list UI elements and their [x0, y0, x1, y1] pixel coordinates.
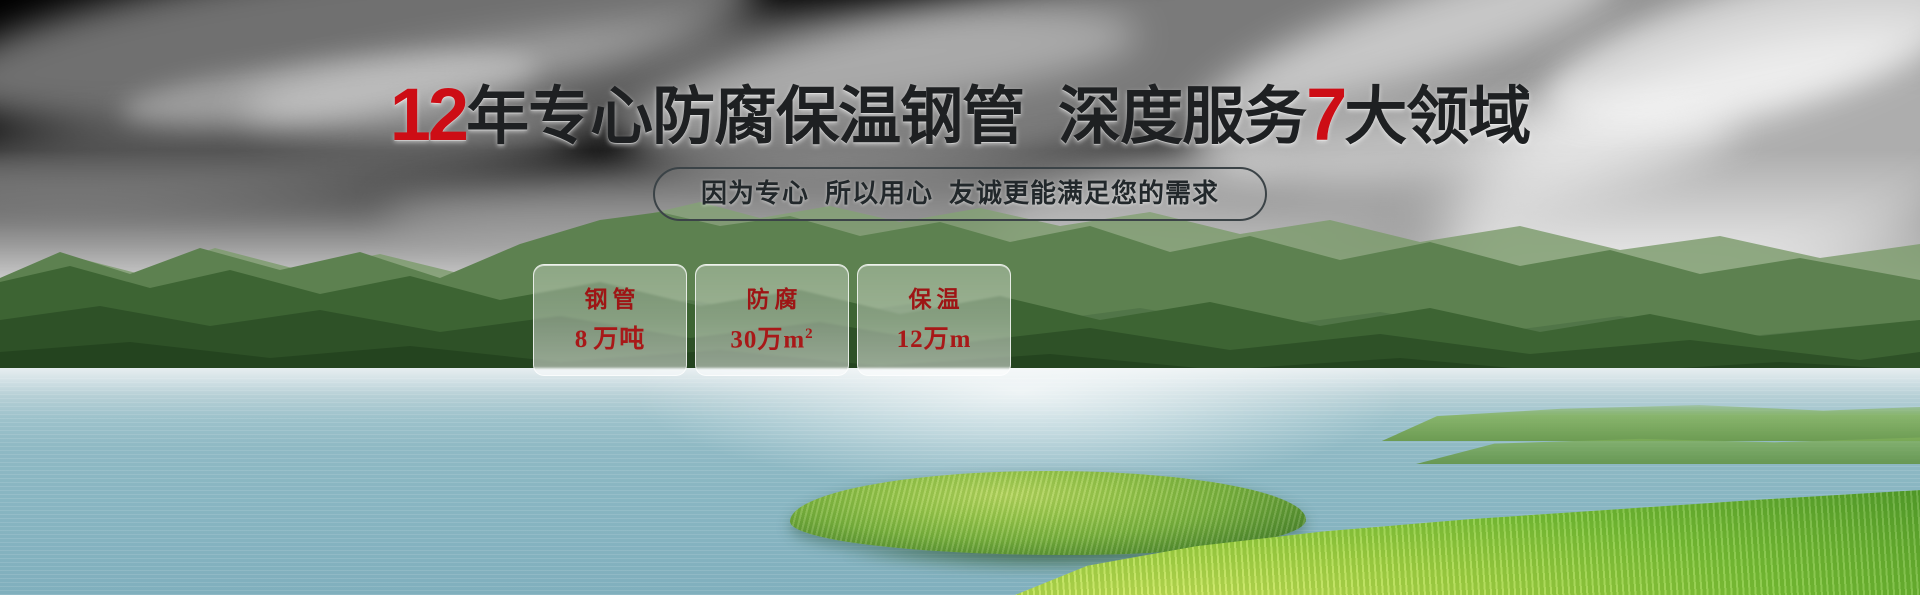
stat-title: 防腐 — [742, 288, 803, 311]
stat-title: 钢管 — [580, 288, 641, 311]
subtitle-row: 因为专心所以用心友诚更能满足您的需求 — [0, 167, 1920, 221]
stat-card-anticorrosion[interactable]: 防腐 30万m2 — [695, 264, 849, 376]
subtitle-part-3: 友诚更能满足您的需求 — [949, 178, 1219, 208]
stat-superscript: 2 — [805, 326, 814, 342]
stat-number: 30 — [730, 326, 757, 353]
stat-number: 8 — [575, 326, 589, 353]
stat-value: 30万m2 — [730, 327, 813, 352]
stat-card-insulation[interactable]: 保温 12万m — [857, 264, 1011, 376]
stat-value: 8万吨 — [575, 327, 646, 352]
stat-number: 12 — [897, 326, 924, 353]
stat-unit: 万吨 — [593, 326, 645, 353]
stat-unit: 万m — [757, 326, 805, 353]
stat-card-steel-pipe[interactable]: 钢管 8万吨 — [533, 264, 687, 376]
subtitle-part-2: 所以用心 — [825, 178, 933, 208]
headline-segment-b: 深度服务 — [1058, 82, 1306, 152]
stat-card-group: 钢管 8万吨 防腐 30万m2 保温 12万m — [533, 264, 1011, 376]
page-title: 12年专心防腐保温钢管深度服务7大领域 — [0, 78, 1920, 152]
headline-accent-number: 7 — [1306, 73, 1344, 156]
headline-lead-number: 12 — [390, 73, 466, 156]
stat-value: 12万m — [897, 327, 972, 352]
headline-segment-c: 大领域 — [1344, 82, 1530, 152]
headline-segment-a: 年专心防腐保温钢管 — [466, 82, 1024, 152]
stat-unit: 万m — [924, 326, 972, 353]
stat-title: 保温 — [904, 288, 965, 311]
subtitle-pill: 因为专心所以用心友诚更能满足您的需求 — [653, 167, 1267, 221]
subtitle-part-1: 因为专心 — [701, 178, 809, 208]
promo-banner: 12年专心防腐保温钢管深度服务7大领域 因为专心所以用心友诚更能满足您的需求 钢… — [0, 0, 1920, 595]
